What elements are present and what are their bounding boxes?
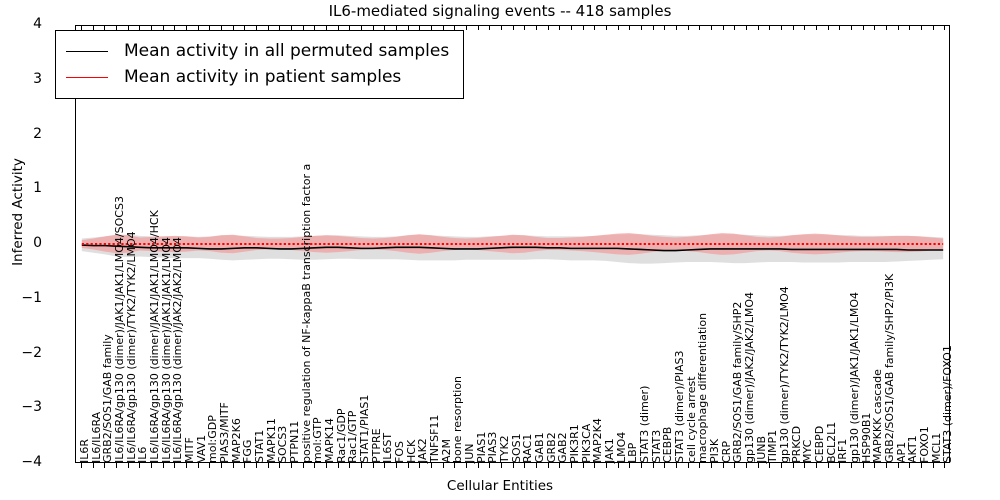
x-tick-mark <box>408 463 409 468</box>
x-tick-mark <box>723 463 724 468</box>
x-tick-mark <box>396 463 397 468</box>
x-tick-label: IL6 <box>139 447 146 463</box>
x-tick-label: gp130 (dimer)/TYK2/TYK2/LMO4 <box>781 286 788 463</box>
x-tick-label: MAPK14 <box>326 418 333 463</box>
x-tick-label: MAP2K6 <box>233 418 240 463</box>
x-tick-mark <box>933 463 934 468</box>
y-tick-label: −2 <box>0 345 42 361</box>
x-tick-mark <box>548 463 549 468</box>
x-tick-mark <box>944 463 945 468</box>
x-tick-mark <box>233 463 234 468</box>
x-tick-mark <box>909 463 910 468</box>
y-tick-label: 3 <box>0 71 42 87</box>
x-tick-mark <box>734 463 735 468</box>
x-tick-label: PIAS3 <box>489 432 496 463</box>
y-tick-label: 4 <box>0 16 42 32</box>
x-tick-mark <box>443 463 444 468</box>
x-tick-mark <box>594 463 595 468</box>
x-tick-mark <box>583 463 584 468</box>
x-tick-label: PIK3R1 <box>571 424 578 463</box>
x-tick-mark <box>874 463 875 468</box>
x-tick-mark <box>174 463 175 468</box>
x-axis-label: Cellular Entities <box>0 478 1000 494</box>
x-tick-mark <box>618 25 619 30</box>
x-tick-mark <box>769 463 770 468</box>
x-tick-label: AP1 <box>898 442 905 463</box>
x-tick-mark <box>606 25 607 30</box>
x-tick-label: GRB2/SOS1/GAB family/SHP2 <box>734 302 741 463</box>
x-tick-label: PRKCD <box>793 426 800 463</box>
x-tick-mark <box>921 25 922 30</box>
x-tick-mark <box>244 463 245 468</box>
x-tick-label: GRB2 <box>548 432 555 463</box>
x-tick-mark <box>594 25 595 30</box>
x-tick-mark <box>886 25 887 30</box>
x-tick-mark <box>583 25 584 30</box>
x-tick-mark <box>933 25 934 30</box>
x-tick-mark <box>571 25 572 30</box>
x-tick-label: PIK3CA <box>583 424 590 463</box>
x-tick-label: IL6R <box>81 439 88 463</box>
x-tick-label: HSP90B1 <box>863 413 870 463</box>
x-tick-mark <box>104 463 105 468</box>
x-tick-mark <box>816 25 817 30</box>
x-tick-mark <box>653 463 654 468</box>
x-tick-mark <box>898 463 899 468</box>
x-tick-mark <box>839 25 840 30</box>
x-tick-label: PI3K <box>711 439 718 463</box>
x-tick-mark <box>256 463 257 468</box>
x-tick-label: mol:GDP <box>209 415 216 463</box>
x-tick-label: cell cycle arrest <box>688 376 695 463</box>
x-tick-label: AKT1 <box>909 435 916 463</box>
x-tick-label: STAT3 (dimer)/FOXO1 <box>944 345 951 463</box>
x-tick-mark <box>734 25 735 30</box>
legend-entry-patient: Mean activity in patient samples <box>66 64 449 90</box>
legend: Mean activity in all permuted samples Me… <box>55 30 464 99</box>
x-tick-mark <box>326 463 327 468</box>
x-tick-label: TYK2 <box>501 435 508 463</box>
x-tick-mark <box>886 463 887 468</box>
x-tick-mark <box>478 463 479 468</box>
x-tick-mark <box>629 25 630 30</box>
x-tick-mark <box>746 463 747 468</box>
x-tick-label: CEBPB <box>664 427 671 463</box>
x-tick-label: positive regulation of NF-kappaB transcr… <box>303 164 310 463</box>
x-tick-label: MCL1 <box>933 433 940 463</box>
x-tick-label: Rac1/GDP <box>338 408 345 463</box>
x-tick-label: PIAS3/MITF <box>221 402 228 463</box>
x-tick-mark <box>804 25 805 30</box>
x-tick-label: GAB2 <box>559 432 566 463</box>
x-tick-mark <box>863 25 864 30</box>
x-tick-label: IL6/IL6RA/gp130 (dimer)/JAK2/JAK2/LMO4 <box>174 237 181 463</box>
x-tick-mark <box>618 463 619 468</box>
x-tick-label: RAC1 <box>524 434 531 463</box>
x-tick-label: FGG <box>244 440 251 463</box>
x-tick-label: MAPKKK cascade <box>874 369 881 463</box>
x-tick-mark <box>676 463 677 468</box>
x-tick-mark <box>863 463 864 468</box>
x-tick-mark <box>559 25 560 30</box>
x-tick-mark <box>816 463 817 468</box>
x-tick-mark <box>723 25 724 30</box>
x-tick-mark <box>688 25 689 30</box>
x-tick-label: CEBPD <box>816 426 823 463</box>
x-tick-mark <box>921 463 922 468</box>
x-tick-label: SOCS3 <box>279 426 286 463</box>
x-tick-mark <box>151 463 152 468</box>
x-tick-mark <box>828 463 829 468</box>
x-tick-mark <box>944 25 945 30</box>
x-tick-mark <box>513 463 514 468</box>
figure: IL6-mediated signaling events -- 418 sam… <box>0 0 1000 500</box>
x-tick-mark <box>571 463 572 468</box>
x-tick-mark <box>221 463 222 468</box>
x-tick-label: GAB1 <box>536 432 543 463</box>
x-tick-mark <box>909 25 910 30</box>
x-tick-mark <box>338 463 339 468</box>
legend-label: Mean activity in all permuted samples <box>124 41 449 61</box>
x-tick-mark <box>279 463 280 468</box>
x-tick-mark <box>548 25 549 30</box>
y-tick-label: −1 <box>0 290 42 306</box>
x-tick-mark <box>559 463 560 468</box>
x-tick-mark <box>536 463 537 468</box>
x-tick-label: STAT3 (dimer) <box>641 386 648 463</box>
x-tick-label: MYC <box>804 440 811 463</box>
x-tick-mark <box>128 463 129 468</box>
x-tick-mark <box>501 463 502 468</box>
x-tick-mark <box>489 463 490 468</box>
x-tick-mark <box>699 463 700 468</box>
x-tick-mark <box>641 25 642 30</box>
legend-label: Mean activity in patient samples <box>124 67 401 87</box>
x-tick-mark <box>839 463 840 468</box>
x-tick-label: LMO4 <box>618 432 625 463</box>
x-tick-mark <box>688 463 689 468</box>
x-tick-label: TNFSF11 <box>431 415 438 463</box>
x-tick-mark <box>478 25 479 30</box>
x-tick-mark <box>781 463 782 468</box>
x-tick-label: SOS1 <box>513 433 520 463</box>
x-tick-label: IRF1 <box>839 439 846 463</box>
x-tick-label: STAT1/PIAS1 <box>361 395 368 463</box>
x-tick-mark <box>198 463 199 468</box>
x-tick-mark <box>384 463 385 468</box>
x-tick-label: FOXO1 <box>921 426 928 463</box>
legend-line-icon <box>66 51 108 52</box>
x-tick-mark <box>489 25 490 30</box>
x-tick-label: STAT1 <box>256 430 263 463</box>
x-tick-mark <box>629 463 630 468</box>
x-tick-label: JUNB <box>758 436 765 463</box>
x-tick-mark <box>209 463 210 468</box>
x-tick-mark <box>711 463 712 468</box>
x-tick-label: BCL2L1 <box>828 422 835 463</box>
x-tick-label: IL6/IL6RA/gp130 (dimer)/JAK1/JAK1/LMO4 <box>163 237 170 463</box>
x-tick-label: IL6ST <box>384 433 391 463</box>
x-tick-label: MAPK11 <box>268 418 275 463</box>
x-tick-mark <box>466 463 467 468</box>
x-tick-mark <box>898 25 899 30</box>
x-tick-label: HCK <box>408 440 415 463</box>
x-tick-label: GRB2/SOS1/GAB family <box>104 334 111 463</box>
x-tick-label: PTPRE <box>373 428 380 463</box>
x-tick-label: MITF <box>186 437 193 463</box>
x-tick-mark <box>186 463 187 468</box>
x-tick-mark <box>758 463 759 468</box>
x-tick-mark <box>116 463 117 468</box>
x-tick-mark <box>793 463 794 468</box>
x-tick-mark <box>769 25 770 30</box>
x-tick-mark <box>93 463 94 468</box>
x-tick-label: IL6/IL6RA/gp130 (dimer)/JAK1/JAK1/LMO4/H… <box>151 210 158 463</box>
x-tick-mark <box>466 25 467 30</box>
x-tick-mark <box>851 463 852 468</box>
x-tick-label: VAV1 <box>198 435 205 463</box>
x-tick-label: TIMP1 <box>769 430 776 463</box>
x-tick-label: PIAS1 <box>478 432 485 463</box>
x-tick-label: IL6/IL6RA <box>93 412 100 463</box>
x-tick-mark <box>793 25 794 30</box>
legend-line-icon <box>66 77 108 78</box>
x-tick-mark <box>291 463 292 468</box>
x-tick-mark <box>361 463 362 468</box>
x-tick-label: CRP <box>723 441 730 463</box>
x-tick-mark <box>536 25 537 30</box>
x-tick-label: gp130 (dimer)/JAK2/JAK2/LMO4 <box>746 292 753 463</box>
x-tick-mark <box>758 25 759 30</box>
x-tick-mark <box>303 463 304 468</box>
x-tick-label: IL6/IL6RA/gp130 (dimer)/JAK1/JAK1/LMO4/S… <box>116 196 123 463</box>
y-tick-label: 2 <box>0 126 42 142</box>
x-tick-mark <box>268 463 269 468</box>
x-tick-label: JAK1 <box>606 438 613 463</box>
x-tick-mark <box>781 25 782 30</box>
x-tick-label: PTPN11 <box>291 421 298 463</box>
y-tick-label: 0 <box>0 235 42 251</box>
x-tick-mark <box>664 463 665 468</box>
x-tick-mark <box>81 463 82 468</box>
x-tick-mark <box>711 25 712 30</box>
x-tick-label: A2M <box>443 439 450 463</box>
x-tick-mark <box>641 463 642 468</box>
x-tick-label: JUN <box>466 443 473 463</box>
x-tick-mark <box>664 25 665 30</box>
y-tick-label: 1 <box>0 180 42 196</box>
x-tick-mark <box>653 25 654 30</box>
x-tick-mark <box>349 463 350 468</box>
x-tick-mark <box>454 463 455 468</box>
x-tick-mark <box>874 25 875 30</box>
x-tick-mark <box>419 463 420 468</box>
legend-entry-permuted: Mean activity in all permuted samples <box>66 38 449 64</box>
x-tick-label: macrophage differentiation <box>699 313 706 463</box>
x-tick-mark <box>524 25 525 30</box>
chart-title: IL6-mediated signaling events -- 418 sam… <box>0 2 1000 20</box>
y-tick-label: −4 <box>0 454 42 470</box>
x-tick-label: GRB2/SOS1/GAB family/SHP2/PI3K <box>886 274 893 463</box>
x-tick-mark <box>524 463 525 468</box>
x-tick-mark <box>606 463 607 468</box>
x-tick-mark <box>676 25 677 30</box>
x-tick-label: IL6/IL6RA/gp130 (dimer)/TYK2/TYK2/LMO4 <box>128 231 135 463</box>
x-tick-label: LBP <box>629 443 636 463</box>
x-tick-label: STAT3 <box>653 430 660 463</box>
x-tick-mark <box>139 463 140 468</box>
x-tick-label: MAP2K4 <box>594 418 601 463</box>
x-tick-label: JAK2 <box>419 438 426 463</box>
x-tick-label: FOS <box>396 441 403 463</box>
x-tick-mark <box>804 463 805 468</box>
x-tick-mark <box>851 25 852 30</box>
x-tick-mark <box>699 25 700 30</box>
x-tick-label: STAT3 (dimer)/PIAS3 <box>676 351 683 463</box>
y-tick-label: −3 <box>0 399 42 415</box>
x-tick-label: gp130 (dimer)/JAK1/JAK1/LMO4 <box>851 292 858 463</box>
x-tick-mark <box>314 463 315 468</box>
x-tick-mark <box>513 25 514 30</box>
x-tick-mark <box>373 463 374 468</box>
x-tick-mark <box>746 25 747 30</box>
x-tick-mark <box>163 463 164 468</box>
x-tick-label: mol:GTP <box>314 417 321 463</box>
x-tick-label: bone resorption <box>454 376 461 463</box>
x-tick-label: Rac1/GTP <box>349 411 356 463</box>
x-tick-mark <box>431 463 432 468</box>
x-tick-mark <box>501 25 502 30</box>
x-tick-mark <box>828 25 829 30</box>
